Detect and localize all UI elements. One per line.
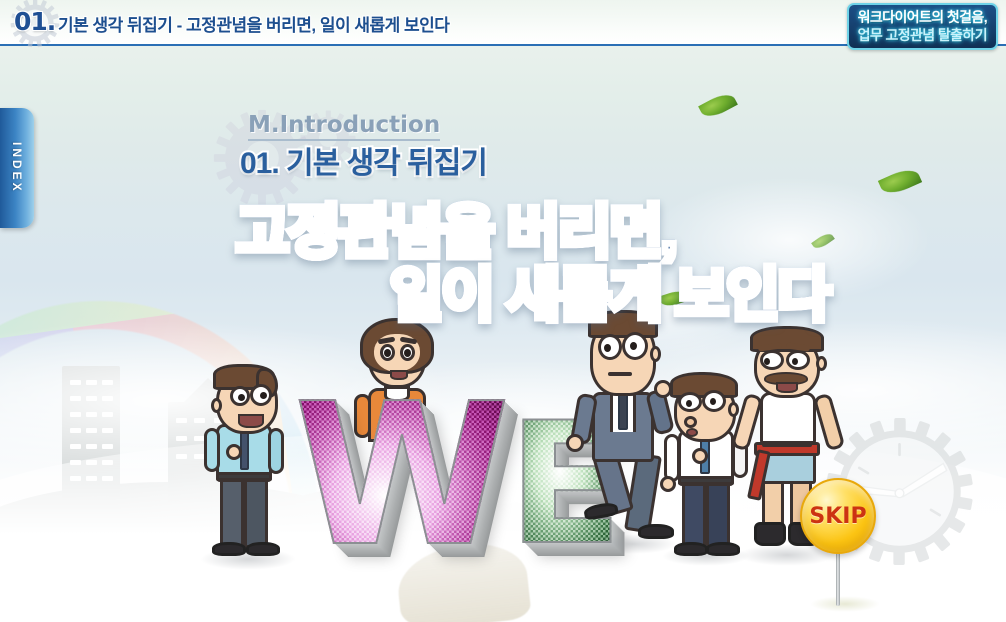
skip-button-shadow <box>810 596 880 612</box>
sidebar-item-index[interactable]: INDEX <box>0 108 34 228</box>
character-man-blue-shirt <box>196 366 306 566</box>
subtitle-english: M.Introduction <box>248 112 440 141</box>
main-title-line-2: 일이 새롭게 보인다 <box>390 248 829 332</box>
skip-button-label: SKIP <box>809 504 866 529</box>
skip-button-circle[interactable]: SKIP <box>800 478 876 554</box>
letter-w-face: W <box>294 378 510 574</box>
badge-line-1: 워크다이어트의 첫걸음, <box>858 8 987 26</box>
presentation-stage: W W E E <box>0 0 1006 622</box>
page-title: 기본 생각 뒤집기 - 고정관념을 버리면, 일이 새롭게 보인다 <box>58 11 449 36</box>
header-number: 01. <box>14 7 55 36</box>
badge-line-2: 업무 고정관념 탈출하기 <box>858 26 987 44</box>
index-tab-label: INDEX <box>0 108 34 228</box>
status-badge: 워크다이어트의 첫걸음, 업무 고정관념 탈출하기 <box>847 3 998 50</box>
subtitle-korean: 01. 기본 생각 뒤집기 <box>240 138 487 182</box>
